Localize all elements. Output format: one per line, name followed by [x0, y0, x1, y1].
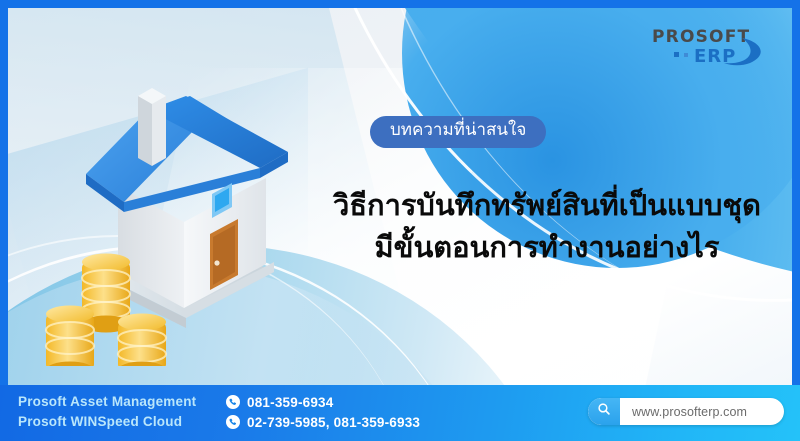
footer-bar: Prosoft Asset Management Prosoft WINSpee…: [0, 385, 800, 441]
footer-phone-numbers: 081-359-6934 02-739-5985, 081-359-6933: [226, 393, 420, 431]
phone-icon: [226, 415, 240, 429]
footer-contacts: Prosoft Asset Management Prosoft WINSpee…: [18, 393, 420, 431]
coin-stack-right: [118, 314, 166, 367]
logo-square-1: [674, 52, 679, 57]
headline-line-2: มีขั้นตอนการทำงานอย่างไร: [308, 226, 786, 268]
search-icon: [597, 402, 611, 421]
logo-square-2: [684, 53, 688, 57]
footer-product-names: Prosoft Asset Management Prosoft WINSpee…: [18, 393, 214, 431]
promo-banner: PROSOFT ERP บทความที่น่าสนใจ วิธีการบันท…: [0, 0, 800, 441]
asset-illustration: [26, 46, 316, 366]
footer-product-name: Prosoft Asset Management: [18, 393, 214, 411]
footer-phone: 081-359-6934: [247, 395, 333, 410]
logo-prosoft-text: PROSOFT: [652, 27, 750, 47]
footer-phone-row[interactable]: 02-739-5985, 081-359-6933: [226, 413, 420, 431]
phone-icon: [226, 395, 240, 409]
headline: วิธีการบันทึกทรัพย์สินที่เป็นแบบชุด มีขั…: [308, 184, 786, 268]
chimney: [138, 88, 166, 166]
website-url-text[interactable]: www.prosofterp.com: [620, 405, 784, 419]
website-search-bar[interactable]: www.prosofterp.com: [588, 398, 784, 425]
footer-product-name: Prosoft WINSpeed Cloud: [18, 413, 214, 431]
coin-stack-left: [46, 306, 94, 367]
search-button[interactable]: [588, 398, 620, 425]
footer-phone-row[interactable]: 081-359-6934: [226, 393, 420, 411]
article-badge: บทความที่น่าสนใจ: [370, 116, 546, 148]
headline-line-1: วิธีการบันทึกทรัพย์สินที่เป็นแบบชุด: [333, 188, 761, 222]
banner-canvas: PROSOFT ERP บทความที่น่าสนใจ วิธีการบันท…: [8, 8, 792, 385]
footer-phone: 02-739-5985, 081-359-6933: [247, 415, 420, 430]
prosoft-erp-logo[interactable]: PROSOFT ERP: [650, 22, 770, 70]
